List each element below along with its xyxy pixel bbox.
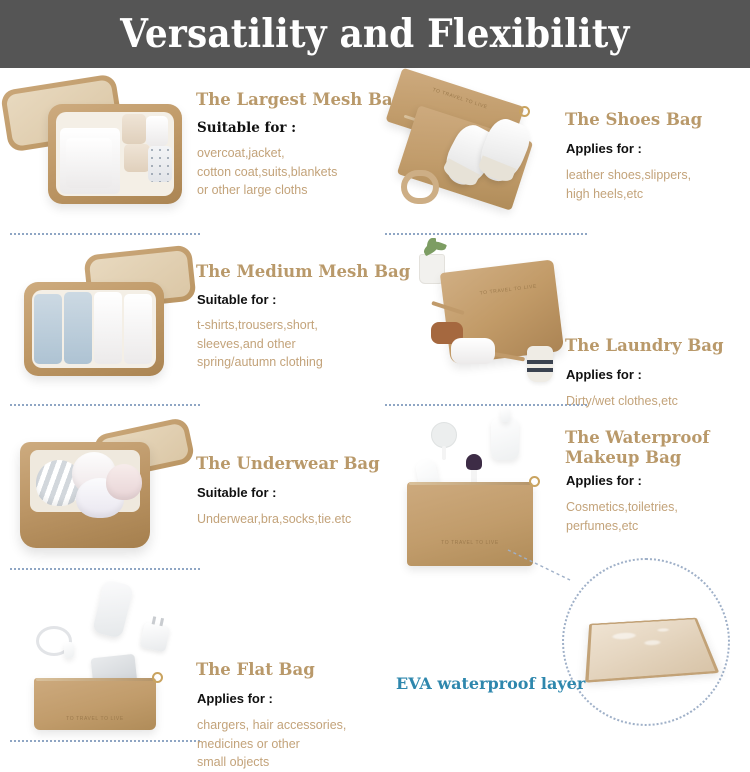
infographic-body: The Largest Mesh Bag Suitable for : over… — [0, 68, 750, 750]
page-title: Versatility and Flexibility — [120, 11, 629, 57]
water-droplet — [657, 628, 669, 632]
water-droplet — [644, 640, 661, 646]
water-droplet — [612, 632, 636, 640]
page-header: Versatility and Flexibility — [0, 0, 750, 68]
eva-waterproof-pouch — [585, 618, 719, 683]
eva-callout-label: EVA waterproof layer — [396, 674, 585, 693]
